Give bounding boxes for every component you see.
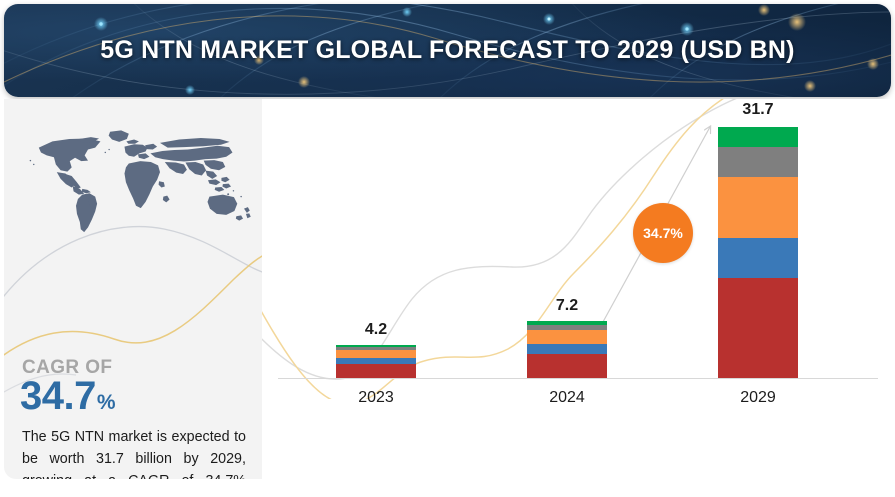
bar-group-2029 <box>718 127 798 378</box>
bar-segment-north-america[interactable] <box>718 278 798 378</box>
bar-stack[interactable] <box>527 321 607 378</box>
chart-baseline <box>278 378 878 379</box>
bar-category-label-2023: 2023 <box>321 389 431 407</box>
cagr-value: 34.7 <box>20 374 96 419</box>
bar-category-label-2029: 2029 <box>703 389 813 407</box>
bar-segment-north-america[interactable] <box>527 354 607 378</box>
cagr-percent-sign: % <box>97 391 116 415</box>
cagr-value-row: 34.7 % <box>20 374 116 419</box>
bar-segment-middle-east-africa[interactable] <box>718 147 798 177</box>
cagr-callout-bubble[interactable]: 34.7% <box>633 203 693 263</box>
infographic-root: 5G NTN MARKET GLOBAL FORECAST TO 2029 (U… <box>0 0 895 497</box>
sidebar-panel: CAGR OF 34.7 % The 5G NTN market is expe… <box>4 99 262 479</box>
bar-segment-asia-pacific[interactable] <box>336 350 416 358</box>
bar-group-2023 <box>336 345 416 378</box>
bar-total-label-2023: 4.2 <box>321 321 431 339</box>
bar-group-2024 <box>527 321 607 378</box>
bar-category-label-2024: 2024 <box>512 389 622 407</box>
bar-stack[interactable] <box>336 345 416 378</box>
header-banner: 5G NTN MARKET GLOBAL FORECAST TO 2029 (U… <box>4 4 891 97</box>
world-map-icon <box>16 119 256 255</box>
bar-segment-asia-pacific[interactable] <box>718 177 798 238</box>
bar-total-label-2024: 7.2 <box>512 297 622 315</box>
chart-panel: 4.2 2023 7.2 2024 <box>262 99 891 485</box>
bar-total-label-2029: 31.7 <box>703 101 813 119</box>
bar-segment-asia-pacific[interactable] <box>527 330 607 344</box>
body-card: CAGR OF 34.7 % The 5G NTN market is expe… <box>4 99 891 485</box>
summary-paragraph: The 5G NTN market is expected to be wort… <box>22 426 246 479</box>
bar-segment-latin-america[interactable] <box>718 127 798 147</box>
page-title: 5G NTN MARKET GLOBAL FORECAST TO 2029 (U… <box>4 4 891 97</box>
bar-segment-europe[interactable] <box>718 238 798 278</box>
bar-segment-north-america[interactable] <box>336 364 416 378</box>
bar-stack[interactable] <box>718 127 798 378</box>
bar-segment-europe[interactable] <box>527 344 607 354</box>
